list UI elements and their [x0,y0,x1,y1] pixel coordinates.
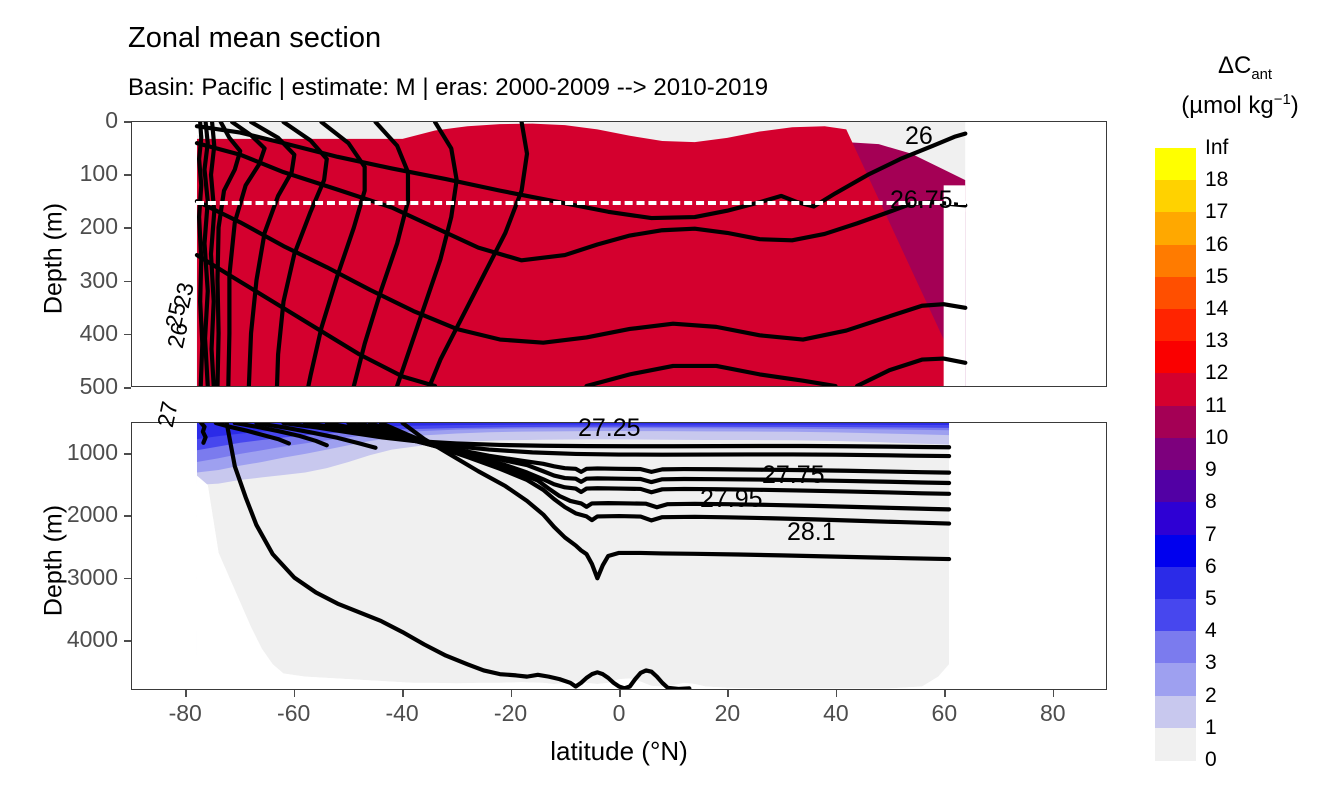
colorbar-band [1155,663,1196,696]
colorbar-tick-label: 10 [1205,426,1228,450]
colorbar-band [1155,728,1196,761]
colorbar-band [1155,373,1196,406]
colorbar-tick-label: 18 [1205,168,1228,192]
x-tick-label: 20 [687,700,767,727]
legend-title-subscript: ant [1251,67,1272,83]
y-tick-label-upper: 0 [48,107,118,134]
y-tick-mark-upper [124,227,131,229]
colorbar-band [1155,599,1196,632]
colorbar-band [1155,148,1196,181]
y-tick-mark-lower [124,453,131,455]
upper-contour-label: 26 [905,122,933,151]
colorbar-tick-label: 8 [1205,490,1217,514]
legend-units-suffix: ) [1291,92,1299,119]
colorbar-band [1155,696,1196,729]
x-tick-label: 0 [579,700,659,727]
colorbar-tick-label: 14 [1205,297,1228,321]
legend-units-prefix: (µmol kg [1181,92,1274,119]
upper-panel-contour-surface [132,122,1106,386]
plot-subtitle: Basin: Pacific | estimate: M | eras: 200… [128,74,768,102]
colorbar-band [1155,438,1196,471]
upper-contour-label: 26 [162,320,194,351]
y-tick-mark-upper [124,121,131,123]
colorbar [1155,148,1196,760]
colorbar-tick-label: 6 [1205,555,1217,579]
colorbar-tick-label: 1 [1205,716,1217,740]
x-tick-mark [185,690,187,697]
x-tick-label: -80 [145,700,225,727]
y-tick-label-upper: 500 [48,373,118,400]
colorbar-band [1155,502,1196,535]
colorbar-band [1155,309,1196,342]
lower-contour-label: 27.75 [762,461,825,490]
colorbar-tick-label: 9 [1205,458,1217,482]
lower-contour-label: 28.1 [787,518,836,547]
colorbar-band [1155,567,1196,600]
legend-title: ΔCant [1150,52,1340,83]
y-tick-mark-upper [124,387,131,389]
colorbar-tick-label: 5 [1205,587,1217,611]
colorbar-tick-label: Inf [1205,136,1228,160]
y-tick-label-lower: 1000 [28,439,118,466]
x-tick-label: -40 [362,700,442,727]
x-tick-label: 60 [904,700,984,727]
y-tick-mark-lower [124,578,131,580]
colorbar-tick-label: 7 [1205,523,1217,547]
colorbar-tick-label: 2 [1205,684,1217,708]
lower-contour-label: 27 [152,399,184,430]
y-tick-mark-upper [124,174,131,176]
x-tick-mark [619,690,621,697]
colorbar-tick-label: 4 [1205,619,1217,643]
colorbar-band [1155,535,1196,568]
y-axis-label-lower: Depth (m) [40,471,69,651]
y-axis-label-upper: Depth (m) [40,169,69,349]
upper-depth-panel [131,121,1107,387]
colorbar-tick-label: 12 [1205,361,1228,385]
colorbar-tick-label: 13 [1205,329,1228,353]
colorbar-band [1155,180,1196,213]
page-title: Zonal mean section [128,22,381,55]
x-tick-mark [1053,690,1055,697]
colorbar-band [1155,277,1196,310]
zonal-mean-section-figure: Zonal mean section Basin: Pacific | esti… [0,0,1344,806]
legend-units-exponent: −1 [1274,92,1291,108]
colorbar-tick-label: 0 [1205,748,1217,772]
colorbar-tick-label: 11 [1205,394,1227,418]
colorbar-band [1155,212,1196,245]
x-tick-label: 80 [1013,700,1093,727]
x-tick-mark [294,690,296,697]
y-tick-mark-lower [124,640,131,642]
x-tick-label: -60 [254,700,334,727]
colorbar-tick-label: 3 [1205,651,1217,675]
x-tick-mark [727,690,729,697]
x-axis-label: latitude (°N) [131,736,1107,767]
y-tick-mark-upper [124,281,131,283]
colorbar-band [1155,470,1196,503]
lower-contour-label: 27.95 [700,485,763,514]
upper-contour-label: 26.75 [890,186,953,215]
colorbar-tick-label: 17 [1205,200,1228,224]
legend-title-main: ΔC [1218,52,1251,79]
colorbar-band [1155,245,1196,278]
y-tick-mark-upper [124,334,131,336]
lower-panel-contour-surface [132,423,1106,689]
lower-depth-panel [131,422,1107,690]
x-tick-mark [402,690,404,697]
colorbar-band [1155,341,1196,374]
mixed-layer-depth-dashed-line [196,201,966,205]
x-tick-mark [944,690,946,697]
colorbar-tick-label: 15 [1205,265,1228,289]
legend-units: (µmol kg−1) [1140,92,1340,120]
colorbar-tick-label: 16 [1205,233,1228,257]
x-tick-label: 40 [796,700,876,727]
x-tick-mark [511,690,513,697]
y-tick-mark-lower [124,515,131,517]
colorbar-band [1155,631,1196,664]
lower-contour-label: 27.25 [578,414,641,443]
x-tick-label: -20 [471,700,551,727]
x-tick-mark [836,690,838,697]
colorbar-band [1155,406,1196,439]
